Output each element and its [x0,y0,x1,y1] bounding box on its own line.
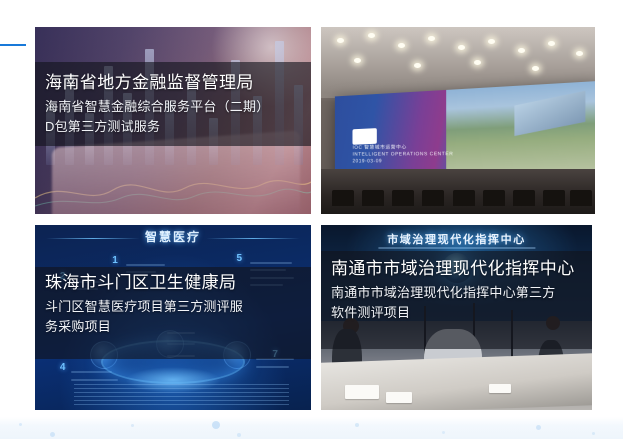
card-caption: 珠海市斗门区卫生健康局 斗门区智慧医疗项目第三方测评服 务采购项目 [45,271,303,337]
card-subtitle-line-1: 南通市市域治理现代化指挥中心第三方 [331,283,584,303]
card-subtitle-line-1: 海南省智慧金融综合服务平台（二期） [45,97,303,117]
case-gallery-page: 海南省地方金融监督管理局 海南省智慧金融综合服务平台（二期） D包第三方测试服务 [0,0,623,439]
card-subtitle-line-2: 务采购项目 [45,317,303,337]
card-caption: 海南省地方金融监督管理局 海南省智慧金融综合服务平台（二期） D包第三方测试服务 [45,71,303,137]
card-caption: 南通市市域治理现代化指挥中心 南通市市域治理现代化指挥中心第三方 软件测评项目 [331,257,584,323]
led-video-wall: IOC 智慧城市运营中心 INTELLIGENT OPERATIONS CENT… [335,81,595,181]
ioc-wall-text-cn: IOC 智慧城市运营中心 [352,144,406,150]
case-card-ioc[interactable]: IOC 智慧城市运营中心 INTELLIGENT OPERATIONS CENT… [321,27,595,214]
case-card-nantong[interactable]: 市域治理现代化指挥中心 南通市市域治理现代化指挥中心 南通市市域治理现代化指挥中… [321,225,592,410]
campus-rendering [446,81,595,177]
case-card-hainan[interactable]: 海南省地方金融监督管理局 海南省智慧金融综合服务平台（二期） D包第三方测试服务 [35,27,311,214]
ioc-wall-text: IOC 智慧城市运营中心 INTELLIGENT OPERATIONS CENT… [352,144,453,165]
case-card-zhuhai[interactable]: 智慧医疗 1 2 4 5 7 [35,225,311,410]
marker-1: 1 [112,255,118,266]
conference-table [321,353,592,410]
marker-5: 5 [236,253,242,264]
screen-headline: 市域治理现代化指挥中心 [387,231,526,247]
card-title: 珠海市斗门区卫生健康局 [45,271,303,294]
card-title: 海南省地方金融监督管理局 [45,71,303,94]
marker-4: 4 [60,362,66,373]
slide-headline: 智慧医疗 [145,228,201,245]
intelligent-operations-center-hall-photo: IOC 智慧城市运营中心 INTELLIGENT OPERATIONS CENT… [321,27,595,214]
card-title: 南通市市域治理现代化指挥中心 [331,257,584,280]
city-logo-badge [352,128,376,145]
building-roof-shape [515,90,587,135]
card-subtitle-line-2: D包第三方测试服务 [45,117,303,137]
operator-console-row [321,169,595,214]
ioc-wall-text-en: INTELLIGENT OPERATIONS CENTER [352,151,453,157]
footer-band [0,417,623,439]
card-subtitle-line-2: 软件测评项目 [331,303,584,323]
ioc-wall-text-date: 2019-03-09 [352,158,382,164]
slide-footnote-text [74,384,289,406]
card-subtitle-line-1: 斗门区智慧医疗项目第三方测评服 [45,297,303,317]
slide-header: 智慧医疗 [35,227,311,249]
screen-subtitle-bar [378,247,535,249]
accent-rule [0,44,26,46]
